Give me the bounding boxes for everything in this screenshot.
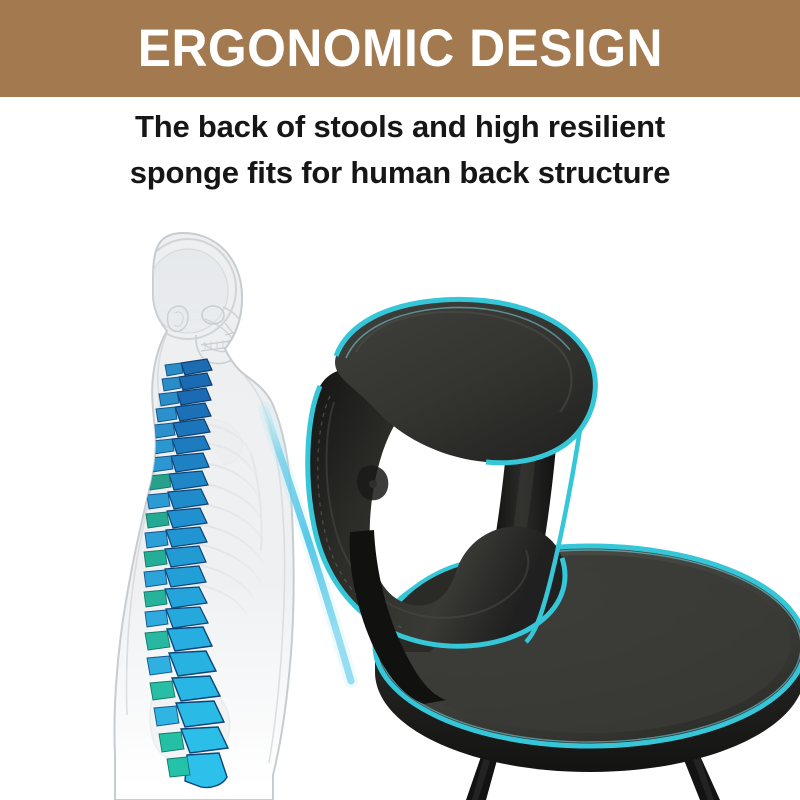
ergonomic-design-infographic: ERGONOMIC DESIGN The back of stools and … — [0, 0, 800, 800]
ergonomic-stool — [290, 290, 800, 800]
header-banner: ERGONOMIC DESIGN — [0, 0, 800, 97]
page-title: ERGONOMIC DESIGN — [137, 22, 662, 75]
subtitle-line-2: sponge fits for human back structure — [0, 150, 800, 196]
illustration-stage — [0, 195, 800, 800]
subtitle-line-1: The back of stools and high resilient — [135, 109, 665, 144]
subtitle-block: The back of stools and high resilient sp… — [0, 104, 800, 196]
